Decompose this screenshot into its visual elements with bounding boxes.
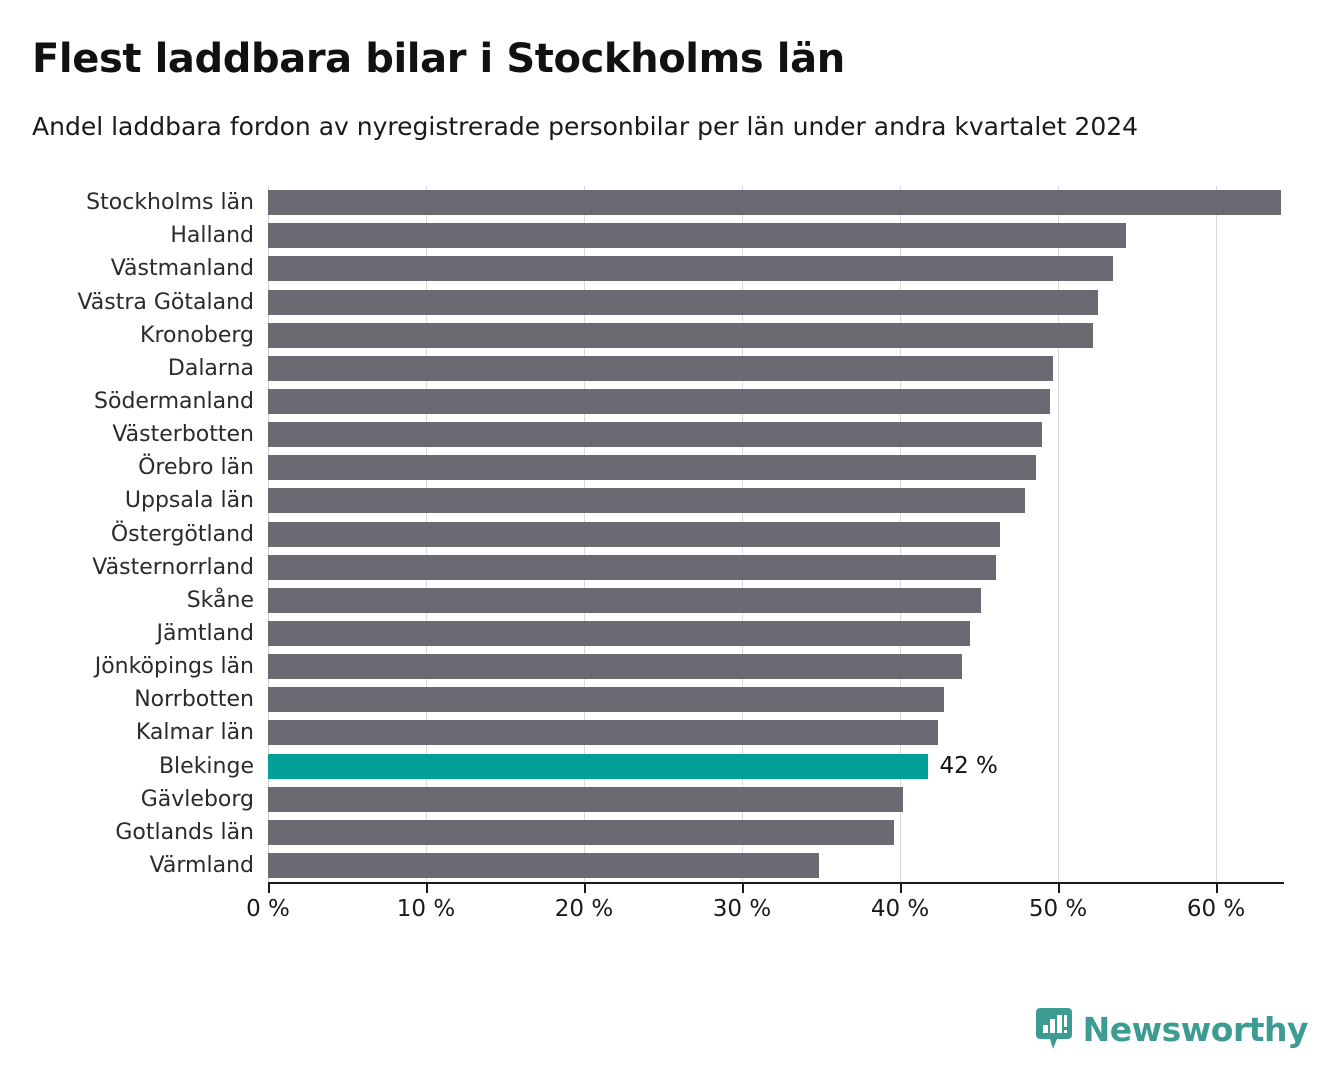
bar[interactable]	[268, 522, 1000, 547]
category-label: Kronoberg	[0, 323, 254, 348]
x-tick-mark	[426, 884, 428, 893]
bar-chart-speech-bubble-icon	[1035, 1007, 1073, 1051]
category-label: Jönköpings län	[0, 654, 254, 679]
bar[interactable]	[268, 720, 938, 745]
bar-row[interactable]: 42 %	[268, 754, 1284, 779]
category-label: Södermanland	[0, 389, 254, 414]
newsworthy-logo: Newsworthy	[1035, 1007, 1308, 1051]
bar[interactable]	[268, 290, 1098, 315]
x-tick-label: 10 %	[397, 896, 455, 922]
bar-row[interactable]	[268, 853, 1284, 878]
category-label: Stockholms län	[0, 190, 254, 215]
bar-row[interactable]	[268, 290, 1284, 315]
bar-series: 42 %	[268, 186, 1284, 882]
bar[interactable]	[268, 190, 1281, 215]
category-label: Västerbotten	[0, 422, 254, 447]
bar-row[interactable]	[268, 323, 1284, 348]
bar-row[interactable]	[268, 820, 1284, 845]
plot-area: 42 %	[268, 186, 1284, 882]
bar-row[interactable]	[268, 223, 1284, 248]
bar[interactable]	[268, 422, 1042, 447]
bar[interactable]	[268, 621, 970, 646]
y-axis-category-labels: Stockholms länHallandVästmanlandVästra G…	[0, 186, 254, 882]
x-tick-label: 20 %	[555, 896, 613, 922]
category-label: Jämtland	[0, 621, 254, 646]
category-label: Blekinge	[0, 754, 254, 779]
bar[interactable]	[268, 787, 903, 812]
x-tick-mark	[268, 884, 270, 893]
bar-row[interactable]	[268, 389, 1284, 414]
bar-row[interactable]	[268, 787, 1284, 812]
bar-row[interactable]	[268, 687, 1284, 712]
bar-row[interactable]	[268, 356, 1284, 381]
chart-page: Flest laddbara bilar i Stockholms län An…	[0, 0, 1340, 1073]
x-tick-mark	[1058, 884, 1060, 893]
bar[interactable]	[268, 256, 1113, 281]
x-tick-mark	[584, 884, 586, 893]
category-label: Västmanland	[0, 256, 254, 281]
bar-row[interactable]	[268, 190, 1284, 215]
bar[interactable]	[268, 654, 962, 679]
bar-row[interactable]	[268, 588, 1284, 613]
bar-row[interactable]	[268, 522, 1284, 547]
category-label: Uppsala län	[0, 488, 254, 513]
category-label: Halland	[0, 223, 254, 248]
category-label: Gävleborg	[0, 787, 254, 812]
category-label: Värmland	[0, 853, 254, 878]
x-tick-mark	[742, 884, 744, 893]
category-label: Dalarna	[0, 356, 254, 381]
bar-row[interactable]	[268, 455, 1284, 480]
logo-wordmark: Newsworthy	[1083, 1013, 1308, 1046]
bar[interactable]	[268, 455, 1036, 480]
bar-row[interactable]	[268, 621, 1284, 646]
category-label: Kalmar län	[0, 720, 254, 745]
category-label: Norrbotten	[0, 687, 254, 712]
category-label: Gotlands län	[0, 820, 254, 845]
x-tick-label: 60 %	[1187, 896, 1245, 922]
category-label: Östergötland	[0, 522, 254, 547]
bar[interactable]	[268, 356, 1053, 381]
category-label: Västernorrland	[0, 555, 254, 580]
bar-row[interactable]	[268, 256, 1284, 281]
bar-row[interactable]	[268, 555, 1284, 580]
bar-row[interactable]	[268, 654, 1284, 679]
bar[interactable]	[268, 389, 1050, 414]
bar[interactable]	[268, 555, 996, 580]
bar[interactable]	[268, 820, 894, 845]
category-label: Skåne	[0, 588, 254, 613]
x-tick-label: 50 %	[1029, 896, 1087, 922]
x-tick-label: 30 %	[713, 896, 771, 922]
category-label: Västra Götaland	[0, 290, 254, 315]
x-tick-label: 0 %	[246, 896, 290, 922]
bar[interactable]	[268, 488, 1025, 513]
x-tick-label: 40 %	[871, 896, 929, 922]
x-axis-ticks: 0 %10 %20 %30 %40 %50 %60 %	[268, 884, 1284, 928]
bar-chart: 42 % Stockholms länHallandVästmanlandVäs…	[0, 0, 1340, 1073]
bar-value-label: 42 %	[939, 753, 997, 779]
x-tick-mark	[1216, 884, 1218, 893]
category-label: Örebro län	[0, 455, 254, 480]
bar-row[interactable]	[268, 422, 1284, 447]
bar[interactable]	[268, 687, 944, 712]
bar-highlighted[interactable]	[268, 754, 928, 779]
bar[interactable]	[268, 588, 981, 613]
bar[interactable]	[268, 223, 1126, 248]
bar[interactable]	[268, 853, 819, 878]
x-tick-mark	[900, 884, 902, 893]
bar-row[interactable]	[268, 488, 1284, 513]
bar-row[interactable]	[268, 720, 1284, 745]
bar[interactable]	[268, 323, 1093, 348]
